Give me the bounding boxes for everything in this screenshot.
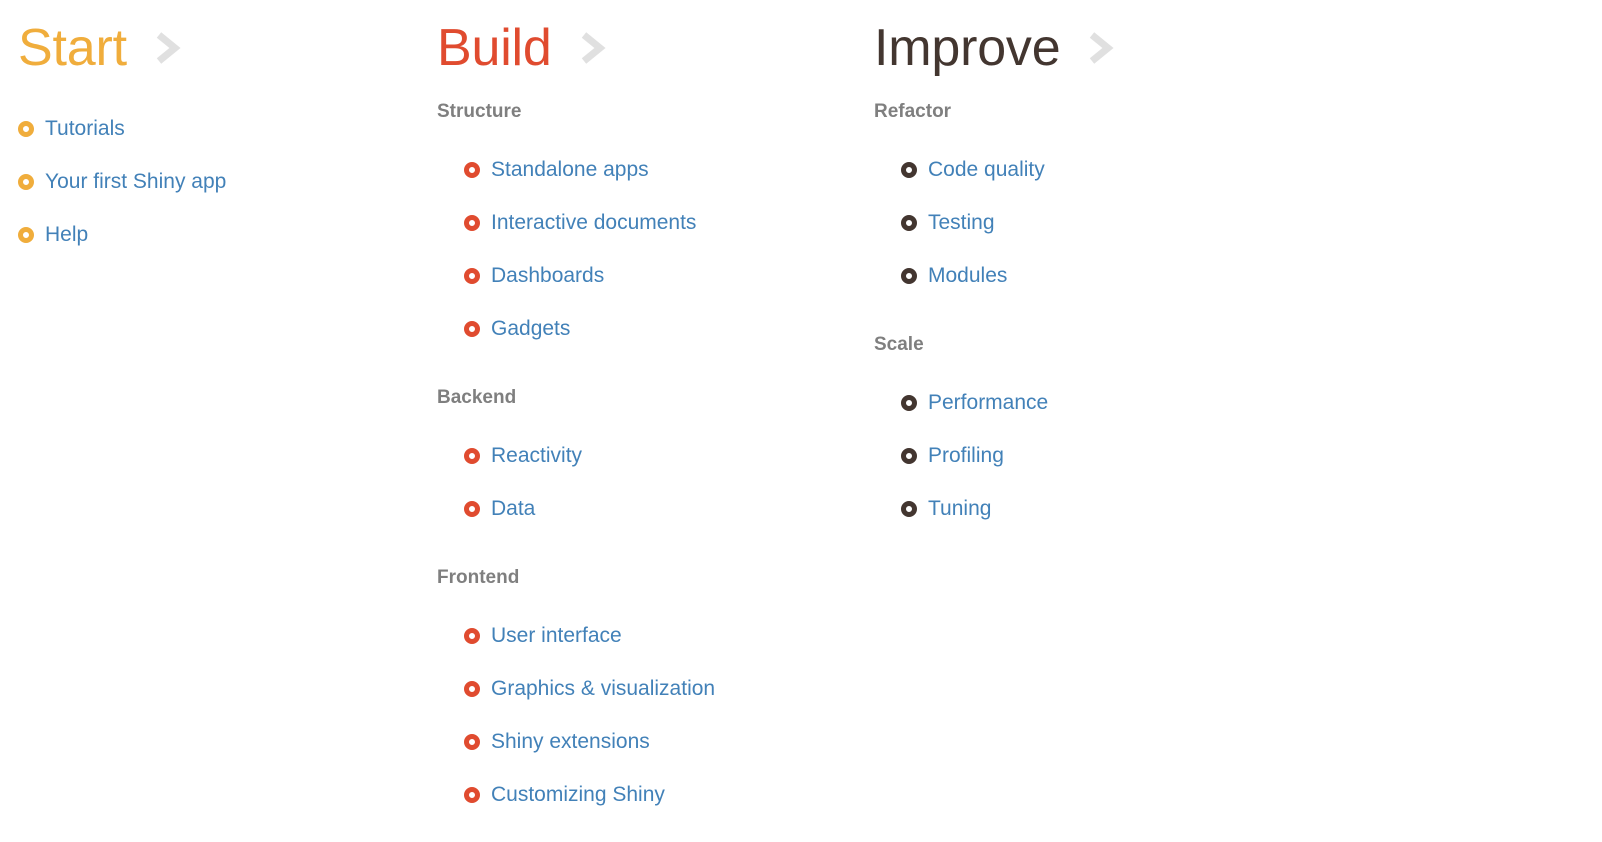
topic-board: StartTutorialsYour first Shiny appHelpBu… — [0, 0, 1602, 842]
column-share: ShareDeploymentDistributionBookmarking — [454, 0, 1602, 842]
